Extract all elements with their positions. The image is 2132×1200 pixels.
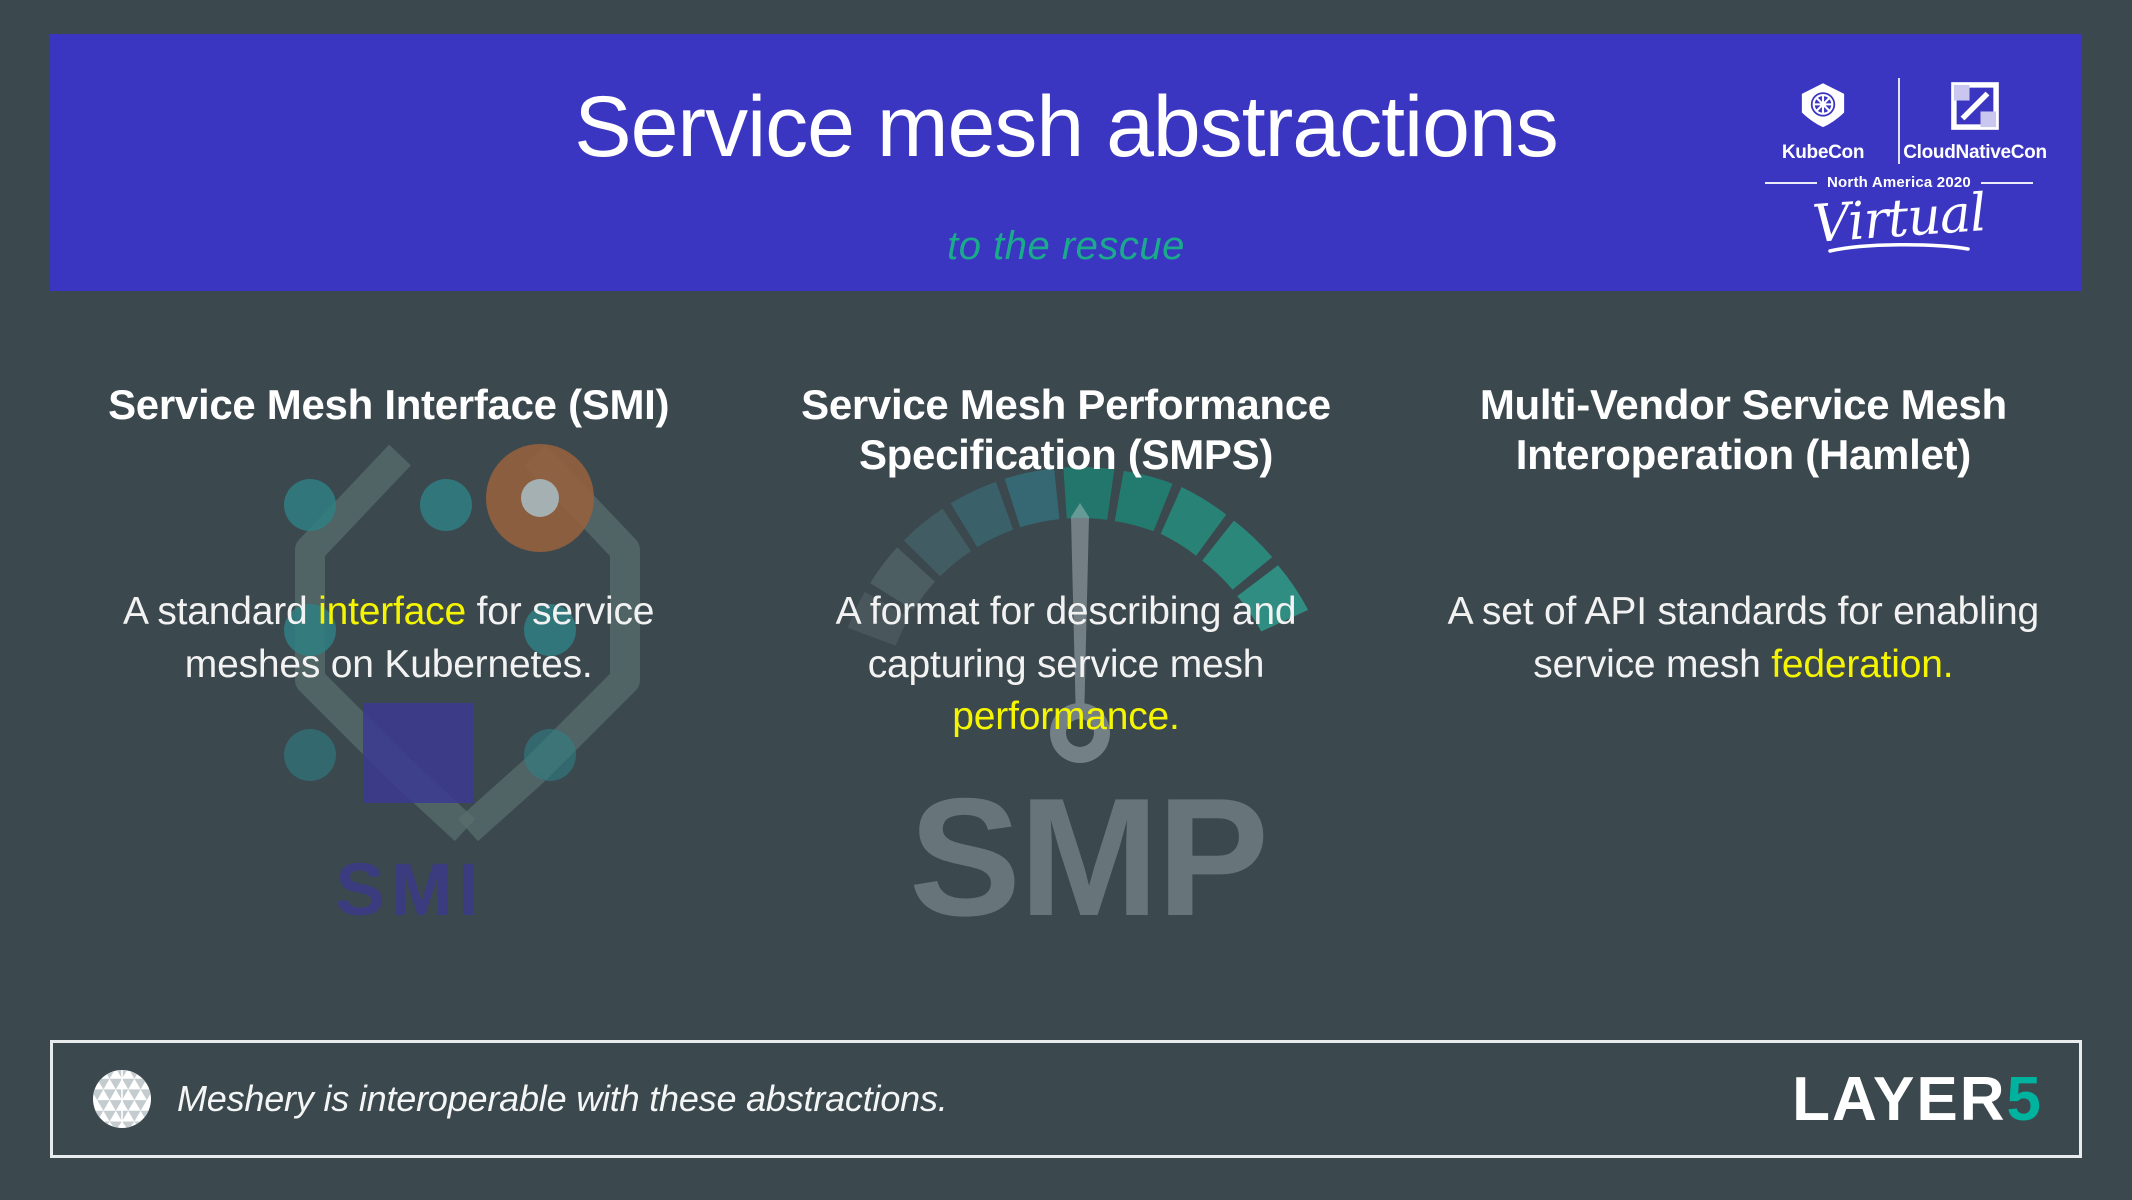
kubecon-cloudnativecon-logo: KubeCon CloudNativeCon (1754, 56, 2044, 281)
column-smps: Service Mesh Performance Specification (… (727, 380, 1404, 980)
abstractions-columns: Service Mesh Interface (SMI) A standard … (50, 380, 2082, 980)
cloudnativecon-wordmark: CloudNativeCon (1903, 142, 2047, 164)
column-body-smi: A standard interface for service meshes … (76, 586, 701, 691)
column-body-smi-before: A standard (123, 590, 318, 633)
layer5-digit: 5 (2007, 1064, 2041, 1135)
column-title-smi: Service Mesh Interface (SMI) (76, 380, 701, 490)
cloudnativecon-block: CloudNativeCon (1908, 77, 2042, 164)
logo-divider (1898, 78, 1900, 164)
slide-root: Service mesh abstractions to the rescue (0, 0, 2132, 1200)
column-title-hamlet: Multi-Vendor Service Mesh Interoperation… (1431, 380, 2056, 490)
footer-note: Meshery is interoperable with these abst… (177, 1078, 948, 1120)
column-body-smps-before: A format for describing and capturing se… (836, 590, 1297, 686)
footer-left-group: Meshery is interoperable with these abst… (91, 1068, 1792, 1130)
column-body-smps-highlight: performance. (952, 695, 1179, 738)
column-smi: Service Mesh Interface (SMI) A standard … (50, 380, 727, 980)
column-title-smps: Service Mesh Performance Specification (… (753, 380, 1378, 490)
column-body-hamlet-highlight: federation. (1771, 643, 1953, 686)
layer5-logo: LAYER5 (1792, 1064, 2041, 1135)
layer5-wordmark: LAYER (1792, 1064, 2006, 1135)
kubecon-logo-top-row: KubeCon CloudNativeCon (1754, 56, 2044, 164)
column-body-smps: A format for describing and capturing se… (753, 586, 1378, 744)
kubernetes-helm-icon (1797, 77, 1849, 135)
column-body-smi-highlight: interface (318, 590, 466, 633)
kubecon-block: KubeCon (1756, 77, 1890, 164)
column-body-hamlet: A set of API standards for enabling serv… (1431, 586, 2056, 691)
rule-left (1765, 182, 1817, 184)
cncf-square-icon (1950, 77, 2000, 135)
kubecon-wordmark: KubeCon (1782, 142, 1864, 164)
footer-bar: Meshery is interoperable with these abst… (50, 1040, 2082, 1158)
meshery-logo-icon (91, 1068, 153, 1130)
header-banner: Service mesh abstractions to the rescue (50, 34, 2082, 291)
column-hamlet: Multi-Vendor Service Mesh Interoperation… (1405, 380, 2082, 980)
